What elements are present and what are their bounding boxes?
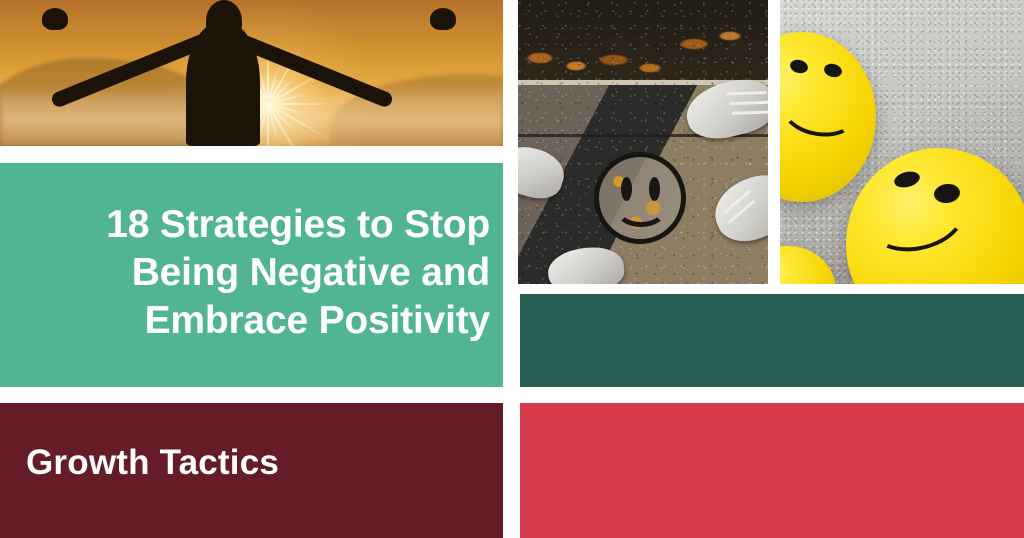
crimson-accent-bar (520, 403, 1024, 538)
graphic-canvas: 18 Strategies to Stop Being Negative and… (0, 0, 1024, 538)
shoelace-shape (723, 190, 751, 214)
sunrise-silhouette-photo (0, 0, 503, 146)
shoelace-shape (727, 91, 767, 95)
person-head-shape (206, 0, 242, 42)
smiley-mouth-shape (615, 191, 667, 227)
painted-smiley-face-icon (594, 152, 686, 244)
balloon-right-eye-shape (823, 62, 844, 79)
balloon-left-eye-shape (893, 169, 922, 190)
balloon-mouth-shape (780, 84, 859, 142)
balloon-left-eye-shape (789, 58, 810, 75)
title-line-1: 18 Strategies to Stop (106, 203, 490, 246)
dark-green-accent-bar (520, 294, 1024, 387)
shoelace-shape (729, 101, 768, 105)
page-title: 18 Strategies to Stop Being Negative and… (20, 201, 490, 345)
sun-core-shape (261, 97, 277, 113)
smiley-balloons-photo (780, 0, 1024, 284)
balloon-mouth-shape (864, 181, 971, 261)
brand-panel: Growth Tactics (0, 403, 503, 538)
title-line-3: Embrace Positivity (145, 299, 490, 342)
person-left-hand-shape (42, 8, 68, 30)
person-right-hand-shape (430, 8, 456, 30)
shoelace-shape (731, 110, 768, 114)
title-panel: 18 Strategies to Stop Being Negative and… (0, 163, 503, 387)
title-line-2: Being Negative and (132, 251, 490, 294)
brand-name-logo: Growth Tactics (26, 443, 279, 483)
pavement-smiley-photo (518, 0, 768, 284)
